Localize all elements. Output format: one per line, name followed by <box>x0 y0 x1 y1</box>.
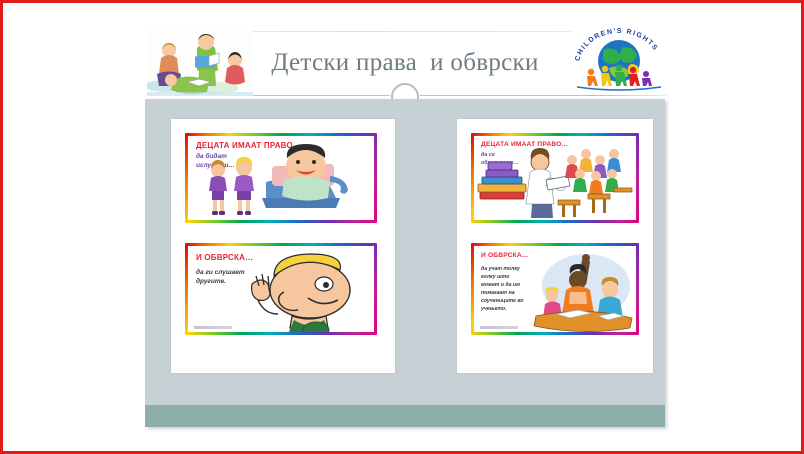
presentation-slide: Детски права и обврски CHILDREN'S RIGHTS <box>139 25 671 429</box>
slide-footer-bar <box>145 405 665 427</box>
pupils-raising-hand-at-desk <box>534 254 632 332</box>
girls-listening <box>209 157 254 215</box>
card-duty-to-listen: И ОБВРСКА… да ги слушает другите. <box>185 243 377 335</box>
slide-content-area: ДЕЦАТА ИМААТ ПРАВО… да бидат ислушани… <box>145 99 665 405</box>
card-right-to-be-heard: ДЕЦАТА ИМААТ ПРАВО… да бидат ислушани… <box>185 133 377 223</box>
card-duty-to-study: И ОБВРСКА… да учат толку колку што можат… <box>471 243 639 335</box>
boy-in-bed <box>262 144 348 208</box>
boy-cupping-ear <box>252 254 350 332</box>
childrens-rights-globe-logo: CHILDREN'S RIGHTS <box>571 28 667 92</box>
slide-header: Детски права и обврски CHILDREN'S RIGHTS <box>139 25 671 99</box>
card-right-to-education: ДЕЦАТА ИМААТ ПРАВО… да се образуваат… <box>471 133 639 223</box>
screenshot-canvas: Детски права и обврски CHILDREN'S RIGHTS <box>3 3 801 451</box>
teacher-with-books-and-pupils <box>478 148 632 218</box>
right-panel: ДЕЦАТА ИМААТ ПРАВО… да се образуваат… <box>457 119 653 373</box>
left-panel: ДЕЦАТА ИМААТ ПРАВО… да бидат ислушани… <box>171 119 395 373</box>
